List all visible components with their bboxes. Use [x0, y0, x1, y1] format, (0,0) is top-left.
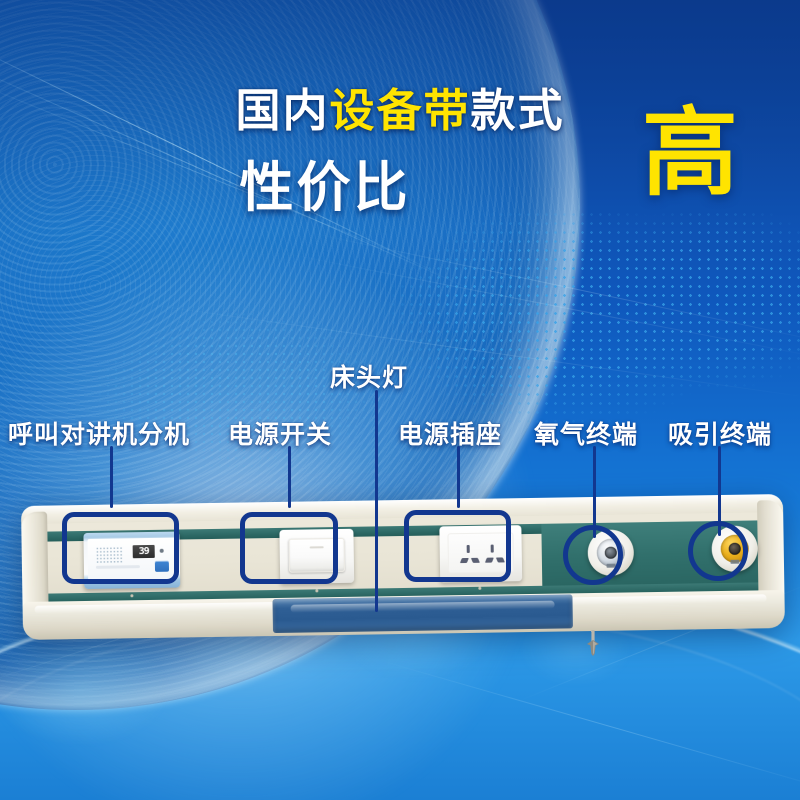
callout-line-suction	[718, 446, 721, 536]
callout-label-oxygen: 氧气终端	[534, 415, 638, 451]
callout-label-power-switch: 电源开关	[228, 415, 332, 451]
callout-line-bed-lamp	[375, 390, 378, 612]
callout-line-oxygen	[593, 446, 596, 538]
callout-label-intercom: 呼叫对讲机分机	[8, 415, 190, 451]
callout-layer: 呼叫对讲机分机 电源开关 床头灯 电源插座 氧气终端 吸引终端	[0, 0, 800, 800]
promo-banner: 国内设备带款式 性价比 高 呼叫对讲机分机 电源开关 床头灯 电源插座 氧气终端…	[0, 0, 800, 800]
callout-label-bed-lamp: 床头灯	[330, 358, 408, 394]
callout-line-power-switch	[288, 446, 291, 508]
callout-line-power-socket	[457, 446, 460, 508]
callout-line-intercom	[110, 446, 113, 508]
callout-label-power-socket: 电源插座	[398, 415, 502, 451]
